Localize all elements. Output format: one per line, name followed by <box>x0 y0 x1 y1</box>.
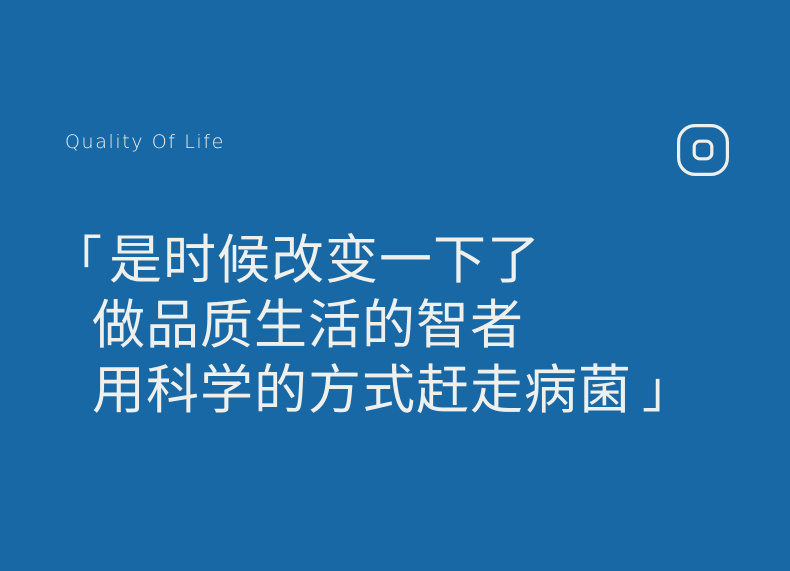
headline-line-1: 「是时候改变一下了 <box>52 228 752 293</box>
brand-tagline: Quality Of Life <box>65 133 225 152</box>
headline-line-3: 用科学的方式赶走病菌」 <box>52 358 752 423</box>
headline-line-2-text: 做品质生活的智者 <box>92 295 524 356</box>
headline-line-3-text: 用科学的方式赶走病菌 <box>92 360 632 421</box>
quote-bracket-close: 」 <box>642 358 693 423</box>
headline-line-2: 做品质生活的智者 <box>52 293 752 358</box>
quote-bracket-open: 「 <box>52 228 103 293</box>
headline-block: 「是时候改变一下了 做品质生活的智者 用科学的方式赶走病菌」 <box>52 228 752 423</box>
promo-poster: Quality Of Life 「是时候改变一下了 做品质生活的智者 用科学的方… <box>0 0 790 571</box>
brand-logo-icon <box>676 123 730 177</box>
headline-line-1-text: 是时候改变一下了 <box>109 230 541 291</box>
rounded-square-outline-logo-icon <box>676 123 730 177</box>
